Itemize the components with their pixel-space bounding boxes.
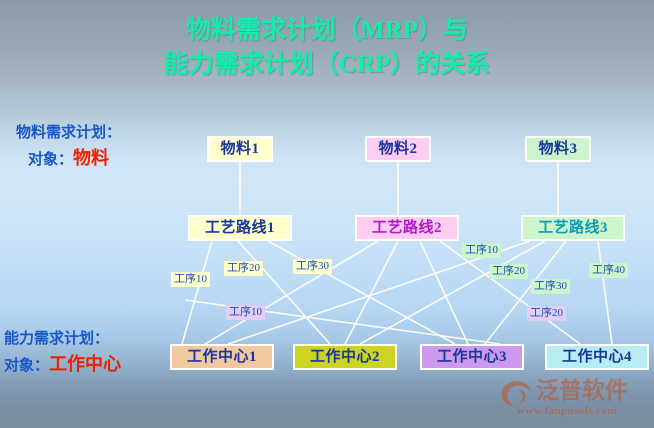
- watermark: 泛普软件 www.fanpusoft.com: [500, 378, 650, 426]
- work-center-node-3[interactable]: 工作中心3: [420, 344, 524, 370]
- watermark-brand: 泛普软件: [536, 378, 628, 403]
- route-node-2[interactable]: 工艺路线2: [355, 215, 459, 241]
- operation-label-r1-30[interactable]: 工序30: [293, 259, 332, 274]
- operation-label-r3-20[interactable]: 工序20: [489, 264, 528, 279]
- mrp-caption-line1: 物料需求计划：: [16, 125, 121, 141]
- slide-canvas: 物料需求计划（MRP）与 能力需求计划（CRP）的关系 物料需求计划： 对象：物…: [0, 0, 654, 428]
- fanpu-logo-icon: [500, 380, 534, 407]
- mrp-object-row: 对象：物料: [16, 145, 121, 173]
- crp-object-label: 对象：: [4, 358, 49, 374]
- crp-object-row: 对象：工作中心: [4, 351, 121, 379]
- crp-caption: 能力需求计划： 对象：工作中心: [4, 328, 121, 379]
- material-node-3[interactable]: 物料3: [525, 136, 591, 162]
- material-node-2[interactable]: 物料2: [365, 136, 431, 162]
- work-center-node-2[interactable]: 工作中心2: [293, 344, 397, 370]
- operation-label-r3-40[interactable]: 工序40: [589, 263, 628, 278]
- operation-label-r1-10[interactable]: 工序10: [171, 272, 210, 287]
- page-title: 物料需求计划（MRP）与 能力需求计划（CRP）的关系: [0, 14, 654, 82]
- crp-object-value: 工作中心: [49, 354, 121, 374]
- link-route2-wc1: [205, 241, 378, 344]
- title-line-1: 物料需求计划（MRP）与: [0, 14, 654, 48]
- operation-label-r1-20[interactable]: 工序20: [224, 261, 263, 276]
- material-node-1[interactable]: 物料1: [207, 136, 273, 162]
- mrp-object-label: 对象：: [28, 152, 73, 168]
- watermark-url: www.fanpusoft.com: [517, 405, 617, 417]
- mrp-caption: 物料需求计划： 对象：物料: [16, 122, 121, 173]
- title-line-2: 能力需求计划（CRP）的关系: [0, 48, 654, 82]
- crp-caption-line1: 能力需求计划：: [4, 331, 109, 347]
- link-route1-wc1: [182, 241, 212, 344]
- route-node-1[interactable]: 工艺路线1: [188, 215, 292, 241]
- operation-label-r2-10[interactable]: 工序10: [226, 305, 265, 320]
- link-route3-wc4: [598, 241, 612, 344]
- work-center-node-1[interactable]: 工作中心1: [170, 344, 274, 370]
- route-node-3[interactable]: 工艺路线3: [521, 215, 625, 241]
- link-route1-wc2: [238, 241, 330, 344]
- work-center-node-4[interactable]: 工作中心4: [545, 344, 649, 370]
- operation-label-r3-10[interactable]: 工序10: [462, 243, 501, 258]
- mrp-object-value: 物料: [73, 148, 109, 168]
- operation-label-r3-30[interactable]: 工序30: [531, 279, 570, 294]
- operation-label-r2-20[interactable]: 工序20: [527, 306, 566, 321]
